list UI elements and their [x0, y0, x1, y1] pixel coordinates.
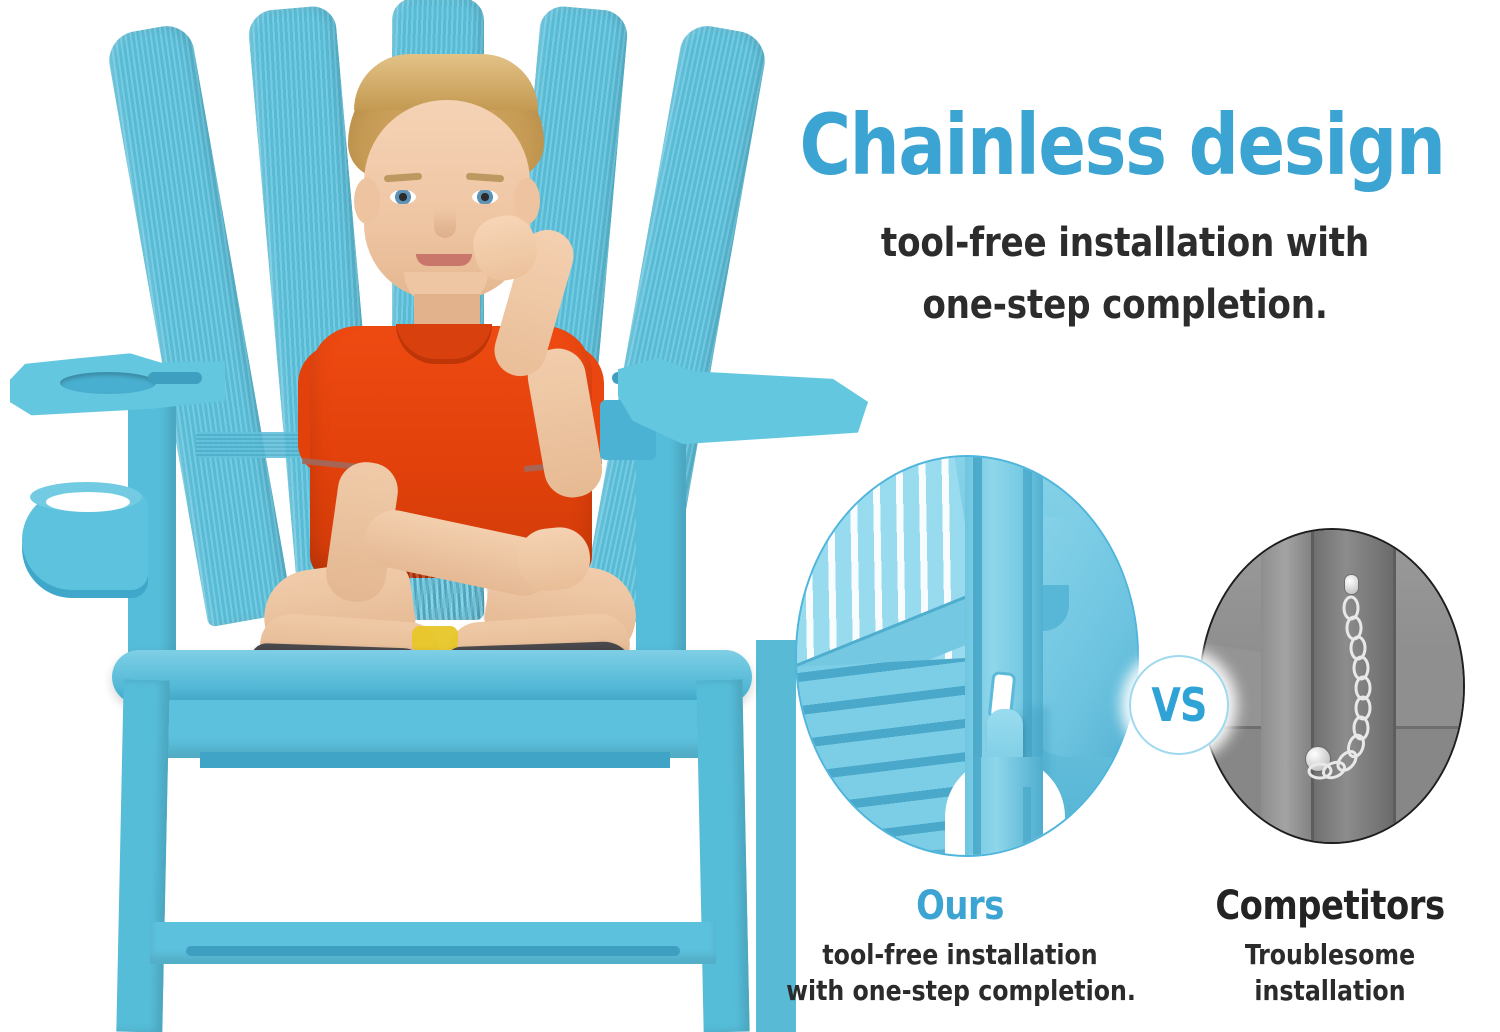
child-sock [412, 626, 458, 652]
ours-desc-line-2: with one-step completion. [786, 973, 1134, 1009]
product-hero-photo [0, 0, 800, 1032]
ours-lower-groove-2 [1023, 787, 1031, 857]
vs-label: VS [1151, 678, 1206, 732]
chair-stretcher-bar [150, 922, 716, 964]
chair-front-apron [140, 700, 720, 758]
cup-holder-recess-left [60, 372, 156, 394]
subtitle-line-1: tool-free installation with [778, 212, 1472, 274]
metal-chain-icon [1201, 530, 1463, 842]
ours-desc-line-1: tool-free installation [786, 937, 1134, 973]
ours-title: Ours [786, 885, 1134, 927]
competitors-description: Troublesome installation [1170, 937, 1490, 1010]
ours-description: tool-free installation with one-step com… [786, 937, 1134, 1010]
ours-caption-block: Ours tool-free installation with one-ste… [775, 885, 1145, 1010]
chair-stretcher-groove [186, 946, 680, 956]
ours-closeup-image[interactable] [795, 455, 1139, 857]
child-eye-right [472, 190, 498, 204]
marketing-image-canvas: Chainless design tool-free installation … [0, 0, 1500, 1032]
child-eye-left [390, 190, 416, 204]
competitors-title: Competitors [1170, 885, 1490, 927]
child-mouth [416, 254, 472, 266]
subtitle-line-2: one-step completion. [778, 274, 1472, 336]
competitor-closeup-image[interactable] [1199, 528, 1465, 844]
page-title: Chainless design [774, 104, 1470, 186]
cup-holder-opening-left [46, 492, 130, 512]
competitors-caption-block: Competitors Troublesome installation [1160, 885, 1500, 1010]
competitors-desc-line-2: installation [1170, 973, 1490, 1009]
competitors-desc-line-1: Troublesome [1170, 937, 1490, 973]
ours-lower-groove-1 [973, 757, 981, 857]
page-subtitle: tool-free installation with one-step com… [778, 212, 1472, 336]
vs-badge: VS [1129, 655, 1229, 755]
chair-apron-lip [200, 752, 670, 768]
child-ear-left [354, 178, 380, 224]
chair-leg-front-right [696, 680, 749, 1032]
chair-leg-front-left [116, 680, 169, 1032]
child-model [236, 58, 656, 678]
chair-seat-front-roll [112, 650, 752, 704]
child-nose [434, 208, 456, 238]
chair-slot-left [148, 372, 202, 384]
